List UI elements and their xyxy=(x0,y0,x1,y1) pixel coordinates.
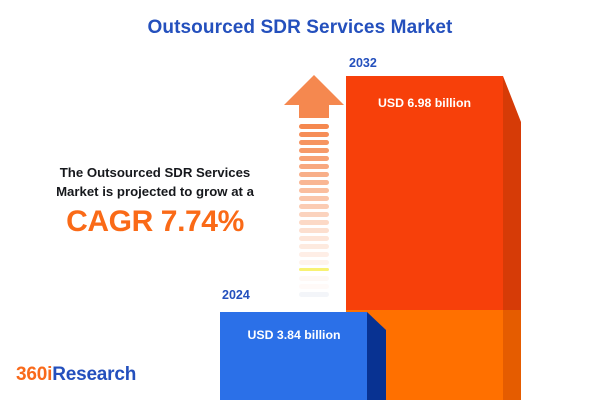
bar-2024-value-label: USD 3.84 billion xyxy=(221,328,367,342)
logo-text-orange: 360i xyxy=(16,364,52,385)
bar-2024-year-label: 2024 xyxy=(222,288,250,302)
brand-logo[interactable]: 360iResearch xyxy=(16,364,136,386)
up-arrow-growth-icon xyxy=(283,74,345,298)
logo-text-blue: Research xyxy=(52,364,136,385)
callout-line-2: Market is projected to grow at a xyxy=(22,182,288,201)
cagr-value: CAGR 7.74% xyxy=(22,205,288,239)
bar-2024[interactable] xyxy=(220,310,388,400)
bar-2032-value-label: USD 6.98 billion xyxy=(346,96,503,110)
infographic-canvas: Outsourced SDR Services Market The Outso… xyxy=(0,0,600,400)
callout-line-1: The Outsourced SDR Services xyxy=(22,163,288,182)
callout-text-block: The Outsourced SDR Services Market is pr… xyxy=(22,163,288,239)
page-title: Outsourced SDR Services Market xyxy=(0,17,600,39)
bar-2032-year-label: 2032 xyxy=(349,56,377,70)
